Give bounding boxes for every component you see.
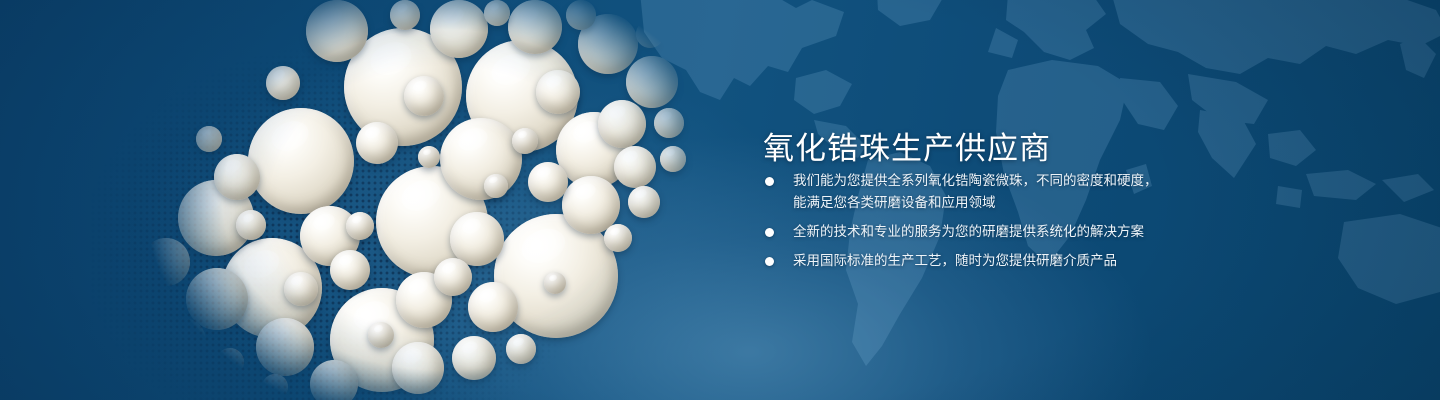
list-item-line-1: 全新的技术和专业的服务为您的研磨提供系统化的解决方案 — [793, 221, 1158, 243]
page-title: 氧化锆珠生产供应商 — [763, 129, 1051, 169]
list-item: 我们能为您提供全系列氧化锆陶瓷微珠，不同的密度和硬度， 能满足您各类研磨设备和应… — [765, 170, 1158, 214]
hero-banner: 氧化锆珠生产供应商 我们能为您提供全系列氧化锆陶瓷微珠，不同的密度和硬度， 能满… — [0, 0, 1440, 400]
feature-list: 我们能为您提供全系列氧化锆陶瓷微珠，不同的密度和硬度， 能满足您各类研磨设备和应… — [765, 170, 1158, 272]
list-item: 采用国际标准的生产工艺，随时为您提供研磨介质产品 — [765, 250, 1158, 272]
bullet-dot-icon — [765, 228, 774, 237]
banner-content: 氧化锆珠生产供应商 我们能为您提供全系列氧化锆陶瓷微珠，不同的密度和硬度， 能满… — [763, 0, 1363, 400]
list-item-line-1: 采用国际标准的生产工艺，随时为您提供研磨介质产品 — [793, 250, 1158, 272]
bullet-dot-icon — [765, 177, 774, 186]
list-item-line-2: 能满足您各类研磨设备和应用领域 — [793, 192, 1158, 214]
list-item-line-1: 我们能为您提供全系列氧化锆陶瓷微珠，不同的密度和硬度， — [793, 170, 1158, 192]
list-item: 全新的技术和专业的服务为您的研磨提供系统化的解决方案 — [765, 221, 1158, 243]
bullet-dot-icon — [765, 257, 774, 266]
